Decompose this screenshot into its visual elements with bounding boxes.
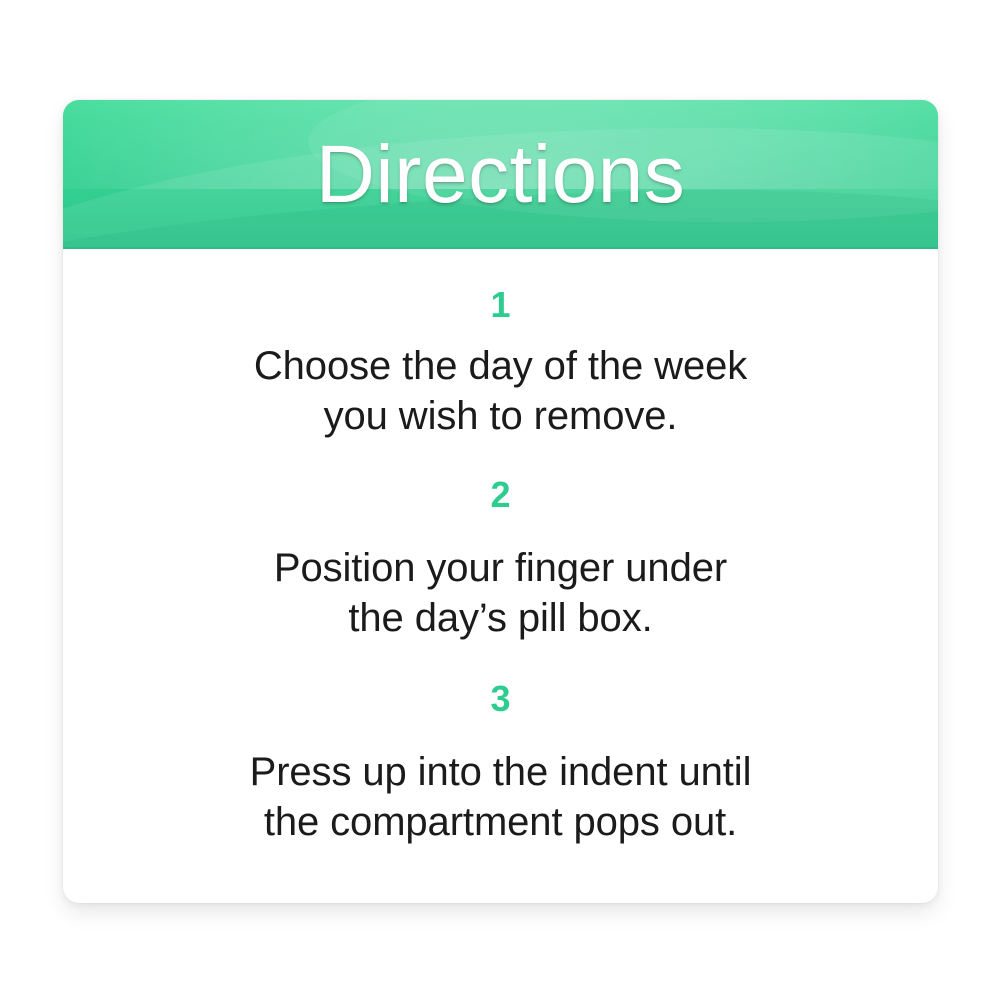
list-item: 3 Press up into the indent until the com… — [123, 677, 878, 847]
step-number-1: 1 — [123, 283, 878, 327]
step-text-1: Choose the day of the week you wish to r… — [123, 341, 878, 441]
directions-card: Directions 1 Choose the day of the week … — [63, 100, 938, 903]
step-number-3: 3 — [123, 677, 878, 721]
page-canvas: Directions 1 Choose the day of the week … — [0, 0, 1000, 1000]
step-text-2: Position your finger under the day’s pil… — [123, 543, 878, 643]
list-item: 2 Position your finger under the day’s p… — [123, 473, 878, 643]
page-title: Directions — [63, 100, 938, 249]
step-text-3: Press up into the indent until the compa… — [123, 747, 878, 847]
step-number-2: 2 — [123, 473, 878, 517]
directions-steps-list: 1 Choose the day of the week you wish to… — [63, 249, 938, 847]
list-item: 1 Choose the day of the week you wish to… — [123, 283, 878, 441]
card-header: Directions — [63, 100, 938, 249]
